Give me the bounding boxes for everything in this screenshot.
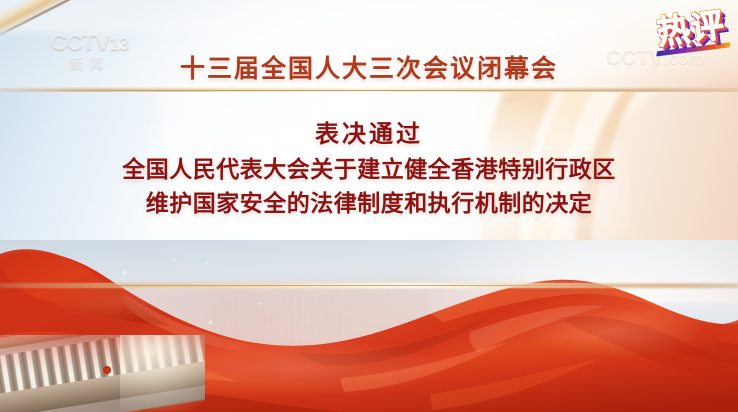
resolution-line-2: 维护国家安全的法律制度和执行机制的决定 — [0, 186, 738, 220]
banner-divider-hairline — [0, 90, 738, 91]
banner-headline: 十三届全国人大三次会议闭幕会 — [0, 49, 738, 85]
scene-backdrop — [0, 240, 738, 412]
program-logo-label: 热评 — [647, 1, 734, 57]
great-hall-of-the-people — [0, 335, 205, 412]
resolution-text-block: 表决通过 全国人民代表大会关于建立健全香港特别行政区 维护国家安全的法律制度和执… — [0, 118, 738, 220]
great-hall-highlight — [120, 335, 205, 412]
resolution-line-1: 全国人民代表大会关于建立健全香港特别行政区 — [0, 152, 738, 186]
resolution-lead-line: 表决通过 — [0, 118, 738, 152]
program-logo: 热评 — [647, 1, 734, 59]
content-divider-hairline — [0, 285, 738, 286]
broadcast-frame: 十三届全国人大三次会议闭幕会 CCTV13 新闻 CCTV.com 热评 表决通… — [0, 0, 738, 412]
